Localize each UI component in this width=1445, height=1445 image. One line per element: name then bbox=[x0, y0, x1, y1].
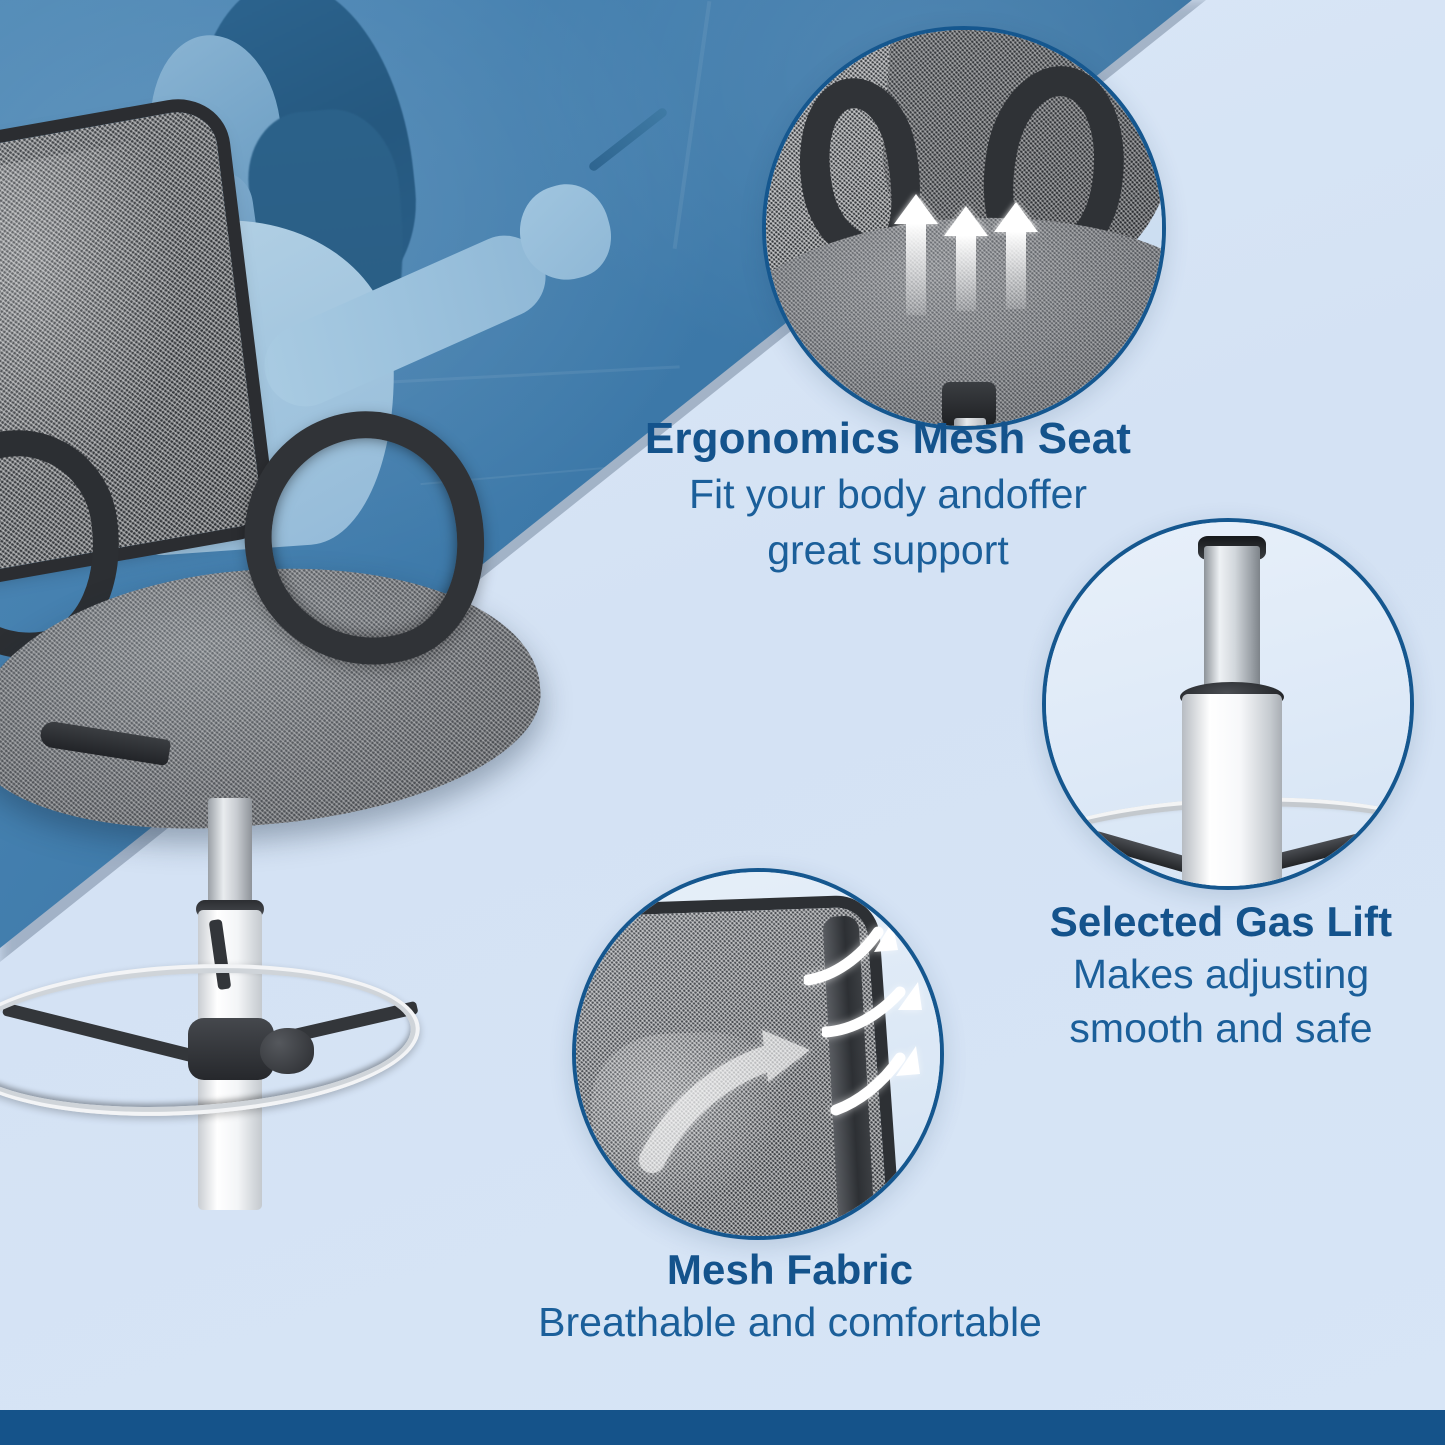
callout-subtitle-mesh-fabric-line1: Breathable and comfortable bbox=[420, 1299, 1160, 1347]
callout-subtitle-gas-lift-line2: smooth and safe bbox=[1002, 1005, 1440, 1053]
callout-circle-mesh-fabric bbox=[572, 868, 944, 1240]
callout-heading-gas-lift: Selected Gas Lift bbox=[1002, 898, 1440, 945]
mesh-seat-closeup-image bbox=[766, 30, 1162, 426]
callout-heading-mesh-fabric: Mesh Fabric bbox=[420, 1246, 1160, 1293]
callout-text-gas-lift: Selected Gas Lift Makes adjusting smooth… bbox=[1002, 898, 1440, 1052]
callout-text-mesh-fabric: Mesh Fabric Breathable and comfortable bbox=[420, 1246, 1160, 1347]
mesh-fabric-closeup-image bbox=[576, 872, 940, 1236]
gas-lift-closeup-image bbox=[1046, 522, 1410, 886]
callout-subtitle-mesh-seat-line1: Fit your body andoffer bbox=[538, 471, 1238, 519]
drafting-chair-product bbox=[0, 130, 580, 1370]
callout-circle-gas-lift bbox=[1042, 518, 1414, 890]
airflow-curved-arrow-icon bbox=[822, 976, 926, 1040]
marker-pen-shape bbox=[587, 106, 668, 172]
footring-adjust-knob bbox=[260, 1028, 314, 1074]
callout-circle-mesh-seat bbox=[762, 26, 1166, 430]
airflow-curved-arrow-icon bbox=[830, 1040, 932, 1116]
callout-heading-mesh-seat: Ergonomics Mesh Seat bbox=[538, 414, 1238, 463]
airflow-sweep-arrow-icon bbox=[634, 1024, 824, 1174]
whiteboard-edge-line bbox=[673, 1, 712, 249]
gas-lift-white-cylinder bbox=[1182, 694, 1282, 890]
infographic-canvas: Ergonomics Mesh Seat Fit your body andof… bbox=[0, 0, 1445, 1445]
callout-subtitle-gas-lift-line1: Makes adjusting bbox=[1002, 951, 1440, 999]
bottom-accent-bar bbox=[0, 1410, 1445, 1445]
